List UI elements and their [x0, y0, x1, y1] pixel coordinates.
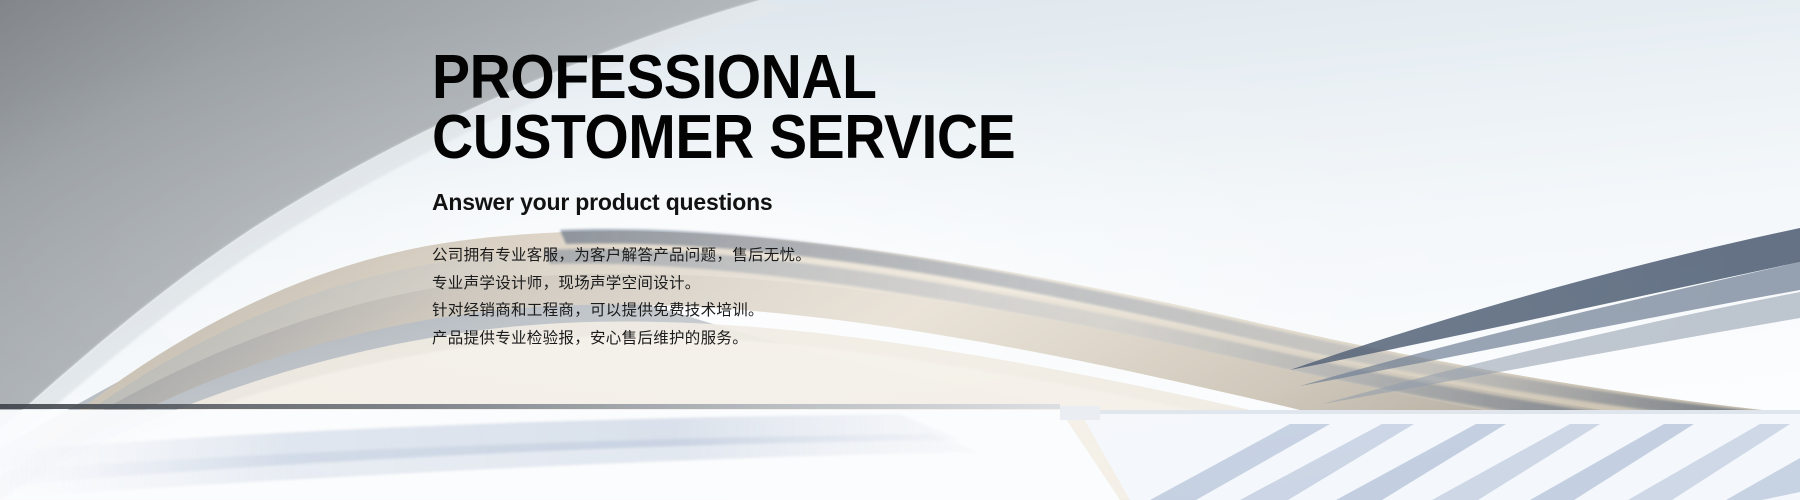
- banner-text-block: PROFESSIONAL CUSTOMER SERVICE Answer you…: [432, 48, 1252, 352]
- page-title: PROFESSIONAL CUSTOMER SERVICE: [432, 48, 1186, 167]
- body-copy: 公司拥有专业客服，为客户解答产品问题，售后无忧。 专业声学设计师，现场声学空间设…: [432, 242, 1252, 352]
- headline-line-1: PROFESSIONAL: [432, 48, 1186, 108]
- headline-line-2: CUSTOMER SERVICE: [432, 108, 1186, 168]
- body-line-2: 专业声学设计师，现场声学空间设计。: [432, 270, 1252, 298]
- body-line-3: 针对经销商和工程商，可以提供免费技术培训。: [432, 297, 1252, 325]
- body-line-4: 产品提供专业检验报，安心售后维护的服务。: [432, 325, 1252, 353]
- subtitle: Answer your product questions: [432, 189, 1252, 216]
- promo-banner: PROFESSIONAL CUSTOMER SERVICE Answer you…: [0, 0, 1800, 500]
- body-line-1: 公司拥有专业客服，为客户解答产品问题，售后无忧。: [432, 242, 1252, 270]
